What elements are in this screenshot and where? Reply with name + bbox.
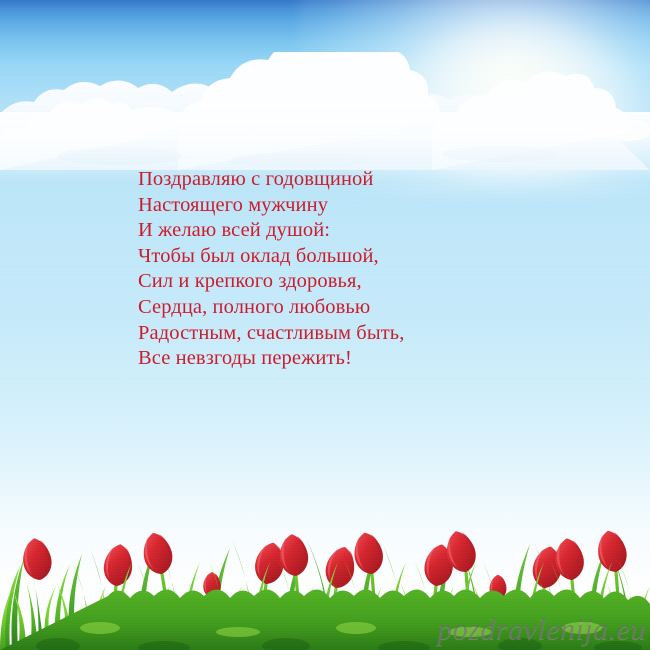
poem-text: Поздравляю с годовщиной Настоящего мужчи… (138, 167, 558, 372)
poem-line: Сердца, полного любовью (138, 295, 558, 321)
tulip (351, 530, 386, 576)
poem-line: Чтобы был оклад большой, (138, 244, 558, 270)
tulip (139, 530, 175, 577)
grass-turf-base (0, 589, 650, 650)
poem-line: И желаю всей душой: (138, 218, 558, 244)
tulip (20, 536, 54, 582)
cloud-band (0, 52, 650, 162)
grass-meadow (0, 500, 650, 650)
poem-line: Настоящего мужчину (138, 193, 558, 219)
poem-line: Поздравляю с годовщиной (138, 167, 558, 193)
greeting-card: Поздравляю с годовщиной Настоящего мужчи… (0, 0, 650, 650)
poem-line: Сил и крепкого здоровья, (138, 269, 558, 295)
tulip-flowers (20, 528, 630, 600)
poem-line: Все невзгоды пережить! (138, 346, 558, 372)
tulip (322, 544, 358, 591)
tulip (102, 543, 134, 588)
poem-line: Радостным, счастливым быть, (138, 321, 558, 347)
